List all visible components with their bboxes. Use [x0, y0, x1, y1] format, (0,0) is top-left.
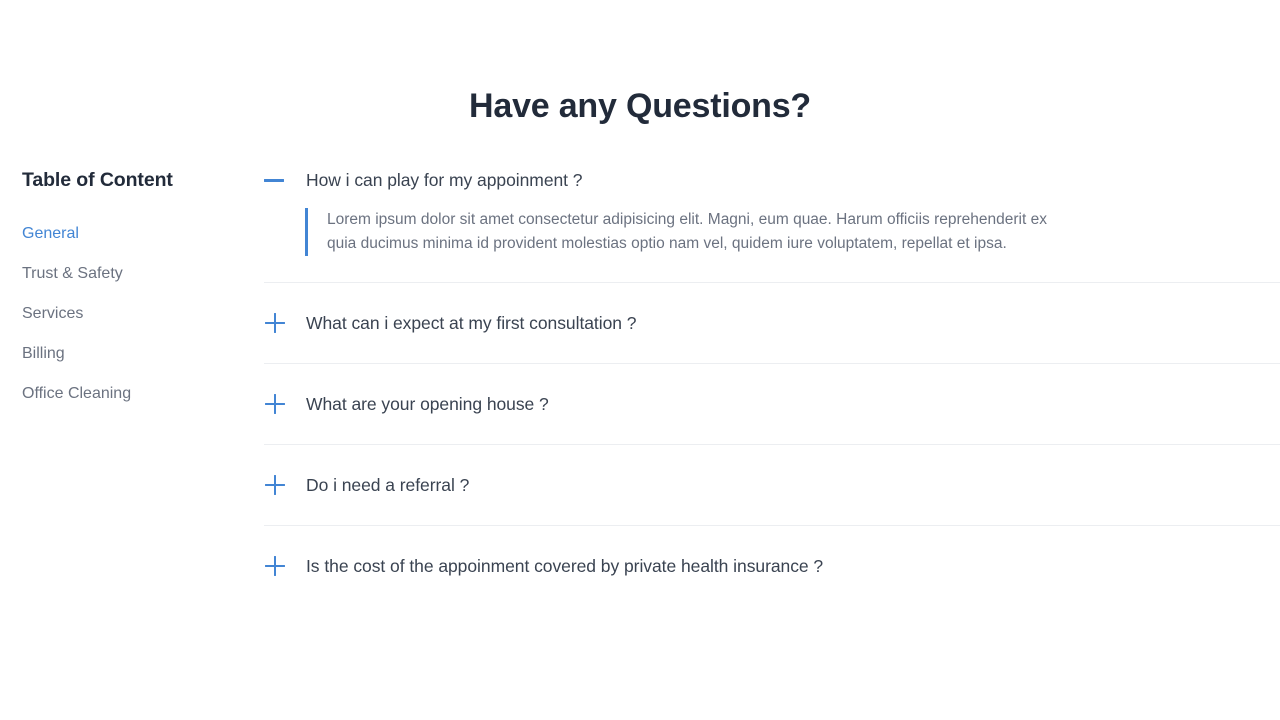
table-of-content-sidebar: Table of Content General Trust & Safety … — [22, 166, 242, 424]
faq-spacer — [264, 594, 1280, 606]
sidebar-item-general[interactable]: General — [22, 224, 79, 244]
faq-item: How i can play for my appoinment ? Lorem… — [264, 152, 1280, 282]
faq-answer: Lorem ipsum dolor sit amet consectetur a… — [264, 208, 1280, 282]
faq-question-text: Do i need a referral ? — [306, 473, 469, 497]
faq-spacer — [264, 526, 1280, 538]
faq-question-toggle[interactable]: What are your opening house ? — [264, 376, 1280, 432]
sidebar-item-trust-and-safety[interactable]: Trust & Safety — [22, 264, 123, 284]
sidebar-item-office-cleaning[interactable]: Office Cleaning — [22, 384, 131, 404]
faq-question-toggle[interactable]: What can i expect at my first consultati… — [264, 295, 1280, 351]
faq-item: What are your opening house ? — [264, 363, 1280, 444]
faq-spacer — [264, 513, 1280, 525]
plus-icon[interactable] — [264, 312, 286, 334]
sidebar-list: General Trust & Safety Services Billing … — [22, 224, 242, 404]
faq-spacer — [264, 445, 1280, 457]
faq-item: Do i need a referral ? — [264, 444, 1280, 525]
faq-answer-accent-block: Lorem ipsum dolor sit amet consectetur a… — [305, 208, 1072, 256]
faq-spacer — [264, 351, 1280, 363]
sidebar-heading: Table of Content — [22, 166, 242, 194]
plus-icon[interactable] — [264, 555, 286, 577]
faq-answer-text: Lorem ipsum dolor sit amet consectetur a… — [327, 208, 1072, 256]
faq-item: What can i expect at my first consultati… — [264, 282, 1280, 363]
faq-question-text: What can i expect at my first consultati… — [306, 311, 636, 335]
faq-question-toggle[interactable]: Is the cost of the appoinment covered by… — [264, 538, 1280, 594]
sidebar-item-services[interactable]: Services — [22, 304, 83, 324]
plus-icon[interactable] — [264, 393, 286, 415]
faq-question-toggle[interactable]: Do i need a referral ? — [264, 457, 1280, 513]
faq-spacer — [264, 432, 1280, 444]
faq-accordion: How i can play for my appoinment ? Lorem… — [264, 152, 1280, 606]
faq-item: Is the cost of the appoinment covered by… — [264, 525, 1280, 606]
faq-question-toggle[interactable]: How i can play for my appoinment ? — [264, 152, 1280, 208]
minus-icon[interactable] — [264, 169, 286, 191]
sidebar-item-billing[interactable]: Billing — [22, 344, 65, 364]
faq-spacer — [264, 283, 1280, 295]
faq-spacer — [264, 364, 1280, 376]
page-title: Have any Questions? — [0, 84, 1280, 128]
faq-question-text: What are your opening house ? — [306, 392, 549, 416]
plus-icon[interactable] — [264, 474, 286, 496]
faq-question-text: How i can play for my appoinment ? — [306, 168, 583, 192]
faq-question-text: Is the cost of the appoinment covered by… — [306, 554, 823, 578]
